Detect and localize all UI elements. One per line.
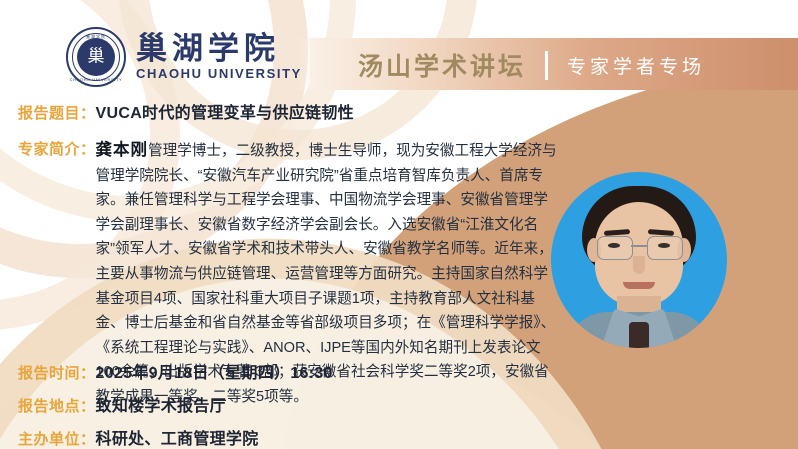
poster-content: 报告题目： VUCA时代的管理变革与供应链韧性 专家简介： 龚本刚管理学博士，二… [0,0,798,449]
report-title-label: 报告题目： [18,102,96,123]
report-place-label: 报告地点： [18,395,96,416]
poster-canvas: 巢湖学院 巢 CHAOHU UNIVERSITY 巢湖学院 CHAOHU UNI… [0,0,798,449]
report-time-row: 报告时间： 2025年9月18日（星期四）16:30 [18,359,333,383]
report-host-row: 主办单位： 科研处、工商管理学院 [18,425,259,449]
report-time-label: 报告时间： [18,362,96,383]
report-title-row: 报告题目： VUCA时代的管理变革与供应链韧性 [18,99,354,123]
report-host-value: 科研处、工商管理学院 [96,425,259,449]
report-title-value: VUCA时代的管理变革与供应链韧性 [96,99,354,123]
speaker-bio-label: 专家简介： [18,138,96,163]
speaker-name: 龚本刚 [96,141,149,159]
report-host-label: 主办单位： [18,428,96,449]
report-time-value: 2025年9月18日（星期四）16:30 [96,359,333,383]
report-place-value: 致知楼学术报告厅 [96,392,226,416]
report-place-row: 报告地点： 致知楼学术报告厅 [18,392,226,416]
